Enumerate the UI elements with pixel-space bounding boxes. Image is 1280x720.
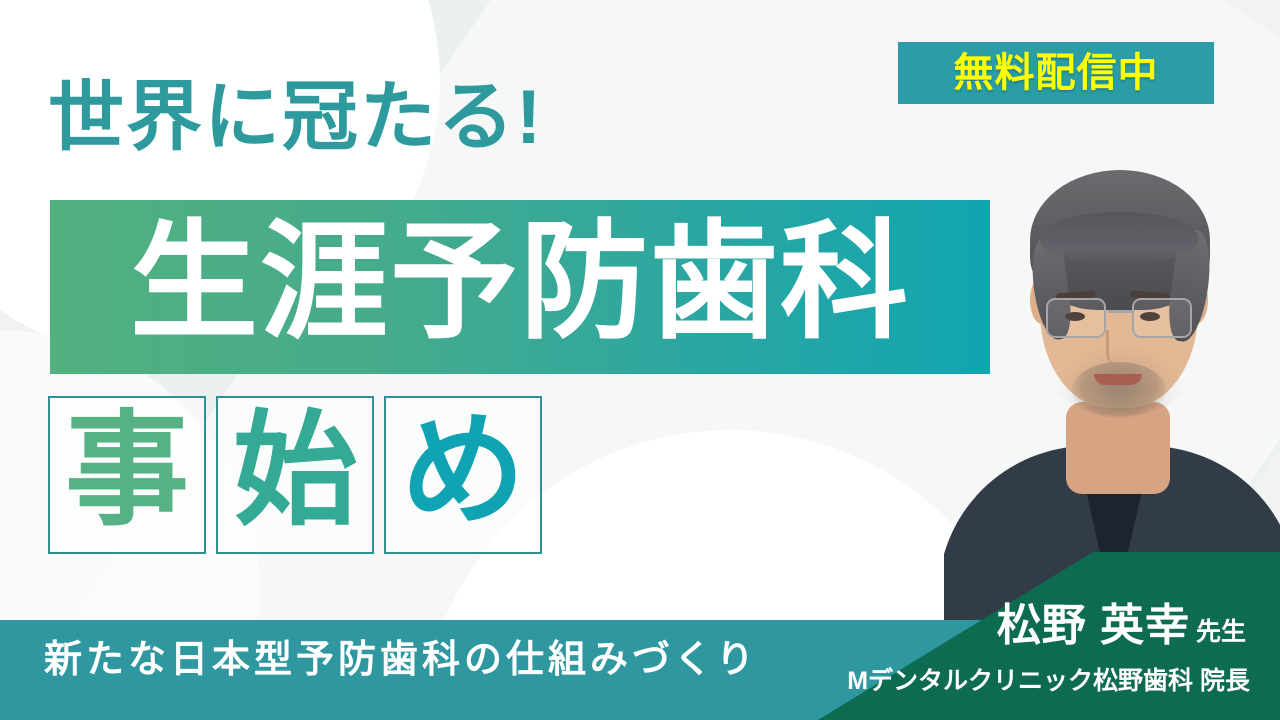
boxed-character-2-label: 始 — [233, 409, 357, 533]
footer-tagline: 新たな日本型予防歯科の仕組みづくり — [44, 638, 758, 684]
headline-banner-label: 生涯予防歯科 — [130, 219, 910, 347]
headline-kicker: 世界に冠たる! — [48, 80, 543, 156]
free-streaming-badge-label: 無料配信中 — [954, 53, 1159, 93]
portrait-fringe — [1040, 212, 1198, 264]
portrait-mouth — [1094, 374, 1142, 385]
free-streaming-badge: 無料配信中 — [898, 42, 1214, 104]
portrait-nose — [1106, 330, 1126, 364]
boxed-characters: 事 始 め — [48, 396, 542, 554]
speaker-affiliation: Mデンタルクリニック松野歯科 院長 — [847, 661, 1250, 697]
portrait-glasses-lens-left — [1046, 298, 1106, 338]
boxed-character-1-label: 事 — [65, 409, 189, 533]
speaker-name: 松野 英幸 — [997, 601, 1190, 650]
boxed-character-3-label: め — [401, 409, 525, 533]
speaker-honorific: 先生 — [1196, 618, 1246, 646]
boxed-character-3: め — [384, 396, 542, 554]
portrait-glasses-bridge — [1108, 310, 1132, 313]
portrait-glasses-lens-right — [1132, 298, 1192, 338]
speaker-name-line: 松野 英幸先生 — [997, 604, 1246, 648]
headline-banner: 生涯予防歯科 — [50, 200, 990, 374]
boxed-character-1: 事 — [48, 396, 206, 554]
portrait-beard — [1072, 362, 1166, 418]
boxed-character-2: 始 — [216, 396, 374, 554]
slide-canvas: 無料配信中 世界に冠たる! 生涯予防歯科 事 始 め — [0, 0, 1280, 720]
